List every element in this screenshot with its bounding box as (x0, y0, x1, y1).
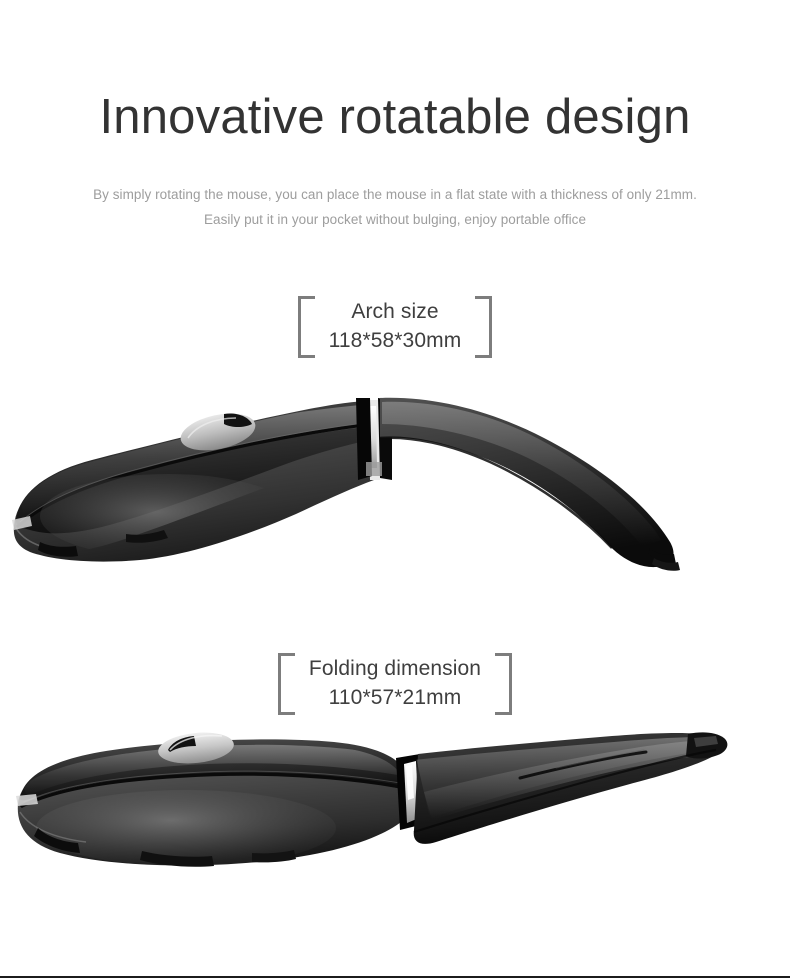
bracket-right-icon (475, 296, 492, 358)
scroll-wheel-tip (224, 413, 252, 427)
page-subtitle-line-1: By simply rotating the mouse, you can pl… (0, 182, 790, 207)
folded-mouse-rear-half (414, 732, 728, 844)
callout-arch-size-value: 118*58*30mm (329, 326, 462, 355)
page-subtitle-line-2: Easily put it in your pocket without bul… (0, 207, 790, 232)
callout-arch-size-label: Arch size (329, 297, 462, 326)
folded-front-edge-glint (16, 794, 38, 806)
bracket-left-icon (298, 296, 315, 358)
arched-mouse-photo (0, 376, 790, 586)
product-feature-page: Innovative rotatable design By simply ro… (0, 0, 790, 978)
page-subtitle: By simply rotating the mouse, you can pl… (0, 182, 790, 232)
bracket-right-icon-2 (495, 653, 512, 715)
page-title: Innovative rotatable design (0, 88, 790, 146)
callout-arch-size: Arch size 118*58*30mm (0, 296, 790, 358)
callout-folding-dimension-text: Folding dimension 110*57*21mm (295, 653, 495, 715)
folded-mouse-photo (0, 720, 790, 890)
hinge-base-block (366, 462, 382, 476)
callout-folding-dimension: Folding dimension 110*57*21mm (0, 653, 790, 715)
bracket-left-icon-2 (278, 653, 295, 715)
callout-folding-dimension-label: Folding dimension (309, 654, 481, 683)
callout-arch-size-text: Arch size 118*58*30mm (315, 296, 476, 358)
callout-folding-dimension-value: 110*57*21mm (309, 683, 481, 712)
mouse-rear-half (380, 398, 680, 571)
